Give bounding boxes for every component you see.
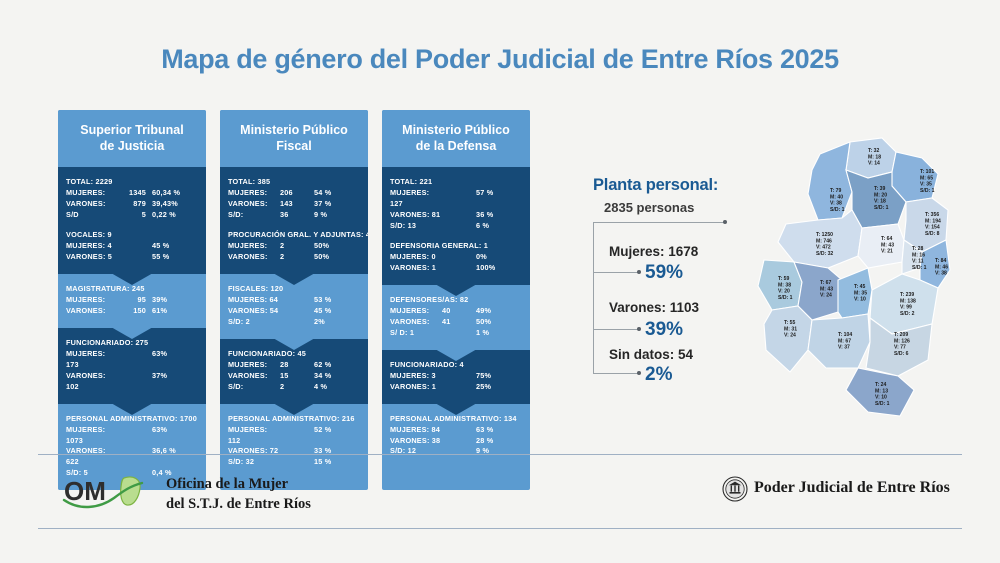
stat-row-value xyxy=(442,371,476,382)
stat-row-label: VARONES: 81 xyxy=(390,210,442,221)
stat-row-label: S/D xyxy=(66,210,116,221)
stat-row-percent: 63% xyxy=(152,349,198,371)
card-segment: TOTAL: 2229MUJERES:134560,34 %VARONES:87… xyxy=(58,167,206,274)
stat-group-header: FUNCIONARIADO: 275 xyxy=(66,338,198,347)
stat-row: S/D: 22% xyxy=(228,317,360,328)
planta-item-pct-varones: 39% xyxy=(645,319,683,341)
stat-row-value xyxy=(116,252,152,263)
stat-row-value xyxy=(442,382,476,393)
stat-group-header: FUNCIONARIADO: 45 xyxy=(228,349,360,358)
stat-row: MUJERES:20654 % xyxy=(228,188,360,199)
stat-row: VARONES:250% xyxy=(228,252,360,263)
card-ministerio-publico-de-la-defensa: Ministerio Públicode la DefensaTOTAL: 22… xyxy=(382,110,530,490)
map-region-label-este: T: 84M: 46V: 38 xyxy=(935,258,948,277)
stat-row: VARONES:14337 % xyxy=(228,199,360,210)
stat-row-label: S/D: xyxy=(228,210,280,221)
stat-group-header: TOTAL: 221 xyxy=(390,177,522,186)
stat-row: VARONES: 1100% xyxy=(390,263,522,274)
om-logo-icon: OM xyxy=(62,470,160,514)
stat-row-value xyxy=(442,446,476,457)
stat-row-label: VARONES: 1 xyxy=(390,382,442,393)
connector-dot-sindatos xyxy=(637,371,641,375)
stat-row-label: MUJERES: 4 xyxy=(66,241,116,252)
stat-group: PERSONAL ADMINISTRATIVO: 134MUJERES: 846… xyxy=(390,414,522,458)
planta-item-label-varones: Varones: 1103 xyxy=(609,300,699,315)
om-line-1: Oficina de la Mujer xyxy=(166,475,311,495)
stat-row-value xyxy=(116,349,152,371)
stat-row-value: 2 xyxy=(280,382,314,393)
stat-row-percent: 37 % xyxy=(314,199,360,210)
stat-row-value xyxy=(442,221,476,232)
stat-group: FUNCIONARIADO: 275MUJERES: 17363%VARONES… xyxy=(66,338,198,393)
stat-row-value: 40 xyxy=(442,306,476,317)
stat-row-label: MUJERES: 1073 xyxy=(66,425,116,447)
stat-row-value xyxy=(116,241,152,252)
stat-row-label: MUJERES: 112 xyxy=(228,425,280,447)
stat-group-header: DEFENSORIA GENERAL: 1 xyxy=(390,241,522,250)
stat-row-value xyxy=(280,446,314,457)
stat-row: S/D: 129 % xyxy=(390,446,522,457)
connector-dot-total xyxy=(723,220,727,224)
planta-item-pct-mujeres: 59% xyxy=(645,262,683,284)
stat-row-label: MUJERES: 64 xyxy=(228,295,280,306)
stat-row: MUJERES:250% xyxy=(228,241,360,252)
map-region-label-centro-oeste: T: 67M: 43V: 24 xyxy=(820,280,833,299)
stat-row-value xyxy=(442,425,476,436)
stat-row-label: VARONES: xyxy=(66,199,116,210)
stat-row-label: VARONES: 102 xyxy=(66,371,116,393)
poder-judicial-seal-icon xyxy=(722,476,748,502)
stat-row-label: MUJERES: xyxy=(66,295,116,306)
footer-divider-top xyxy=(38,454,962,455)
stat-row-value xyxy=(116,371,152,393)
stat-row: VARONES: 3828 % xyxy=(390,436,522,447)
stat-row-percent: 0% xyxy=(476,252,522,263)
stat-row-percent: 62 % xyxy=(314,360,360,371)
stat-row: VARONES:4150% xyxy=(390,317,522,328)
organism-cards: Superior Tribunalde JusticiaTOTAL: 2229M… xyxy=(58,110,530,490)
stat-row-label: VARONES: xyxy=(228,199,280,210)
stat-group: TOTAL: 2229MUJERES:134560,34 %VARONES:87… xyxy=(66,177,198,221)
card-segment: TOTAL: 221MUJERES: 12757 %VARONES: 8136 … xyxy=(382,167,530,285)
stat-row-percent: 50% xyxy=(314,252,360,263)
stat-row-percent: 100% xyxy=(476,263,522,274)
stat-row: S/D50,22 % xyxy=(66,210,198,221)
stat-row: MUJERES: 12757 % xyxy=(390,188,522,210)
stat-row: MUJERES: 17363% xyxy=(66,349,198,371)
stat-row: MUJERES: 6453 % xyxy=(228,295,360,306)
stat-row-value xyxy=(442,210,476,221)
stat-row: MUJERES:9539% xyxy=(66,295,198,306)
stat-group-header: PROCURACIÓN GRAL. Y ADJUNTAS: 4 xyxy=(228,230,360,239)
stat-row-value xyxy=(442,188,476,210)
poder-judicial-text: Poder Judicial de Entre Ríos xyxy=(754,479,950,497)
stat-row-label: VARONES: xyxy=(66,306,116,317)
om-line-2: del S.T.J. de Entre Ríos xyxy=(166,495,311,515)
card-subtitle: Fiscal xyxy=(240,139,348,155)
map-region-label-este-norte: T: 356M: 194V: 154S/D: 8 xyxy=(925,212,941,237)
stat-row-label: MUJERES: xyxy=(228,241,280,252)
stat-row-percent: 63% xyxy=(152,425,198,447)
map-region-label-norte-centro: T: 32M: 18V: 14 xyxy=(868,148,881,167)
stat-row-percent: 36 % xyxy=(476,210,522,221)
stat-row-percent: 50% xyxy=(314,241,360,252)
map-region-label-centro: T: 64M: 43V: 21 xyxy=(881,236,894,255)
stat-group: FISCALES: 120MUJERES: 6453 %VARONES: 544… xyxy=(228,284,360,328)
card-header-superior-tribunal-de-justicia: Superior Tribunalde Justicia xyxy=(58,110,206,167)
stat-row: MUJERES: 11252 % xyxy=(228,425,360,447)
card-title: Ministerio Público xyxy=(402,123,510,139)
stat-row-percent: 39,43% xyxy=(152,199,198,210)
stat-group: FUNCIONARIADO: 4MUJERES: 375%VARONES: 12… xyxy=(390,360,522,393)
stat-row-percent: 0,22 % xyxy=(152,210,198,221)
stat-row-label: S/ D: 1 xyxy=(390,328,442,339)
card-header-ministerio-publico-de-la-defensa: Ministerio Públicode la Defensa xyxy=(382,110,530,167)
stat-group-header: DEFENSORES/AS: 82 xyxy=(390,295,522,304)
stat-row-label: VARONES: 622 xyxy=(66,446,116,468)
stat-row-label: MUJERES: xyxy=(228,188,280,199)
stat-group-header: PERSONAL ADMINISTRATIVO: 1700 xyxy=(66,414,198,423)
stat-row-value xyxy=(442,252,476,263)
stat-group: PERSONAL ADMINISTRATIVO: 216MUJERES: 112… xyxy=(228,414,360,469)
stat-row-percent: 2% xyxy=(314,317,360,328)
stat-group: DEFENSORES/AS: 82MUJERES:4049%VARONES:41… xyxy=(390,295,522,339)
stat-row-label: MUJERES: xyxy=(228,360,280,371)
stat-row-value xyxy=(280,425,314,447)
card-title: Superior Tribunal xyxy=(80,123,184,139)
stat-row-value: 150 xyxy=(116,306,152,317)
stat-row-percent: 49% xyxy=(476,306,522,317)
stat-row-percent: 57 % xyxy=(476,188,522,210)
stat-row-value: 206 xyxy=(280,188,314,199)
stat-row-percent: 63 % xyxy=(476,425,522,436)
stat-row-value xyxy=(116,425,152,447)
stat-row-percent: 1 % xyxy=(476,328,522,339)
stat-row-value: 879 xyxy=(116,199,152,210)
stat-row-label: S/D: 2 xyxy=(228,317,280,328)
stat-row-label: MUJERES: 84 xyxy=(390,425,442,436)
planta-item-label-mujeres: Mujeres: 1678 xyxy=(609,244,698,259)
stat-row-label: VARONES: xyxy=(228,371,280,382)
stat-row-label: MUJERES: xyxy=(66,188,116,199)
stat-row-percent: 60,34 % xyxy=(152,188,198,199)
stat-row: S/D: 136 % xyxy=(390,221,522,232)
stat-row: VARONES:1534 % xyxy=(228,371,360,382)
stat-row-value xyxy=(116,446,152,468)
stat-row: VARONES:87939,43% xyxy=(66,199,198,210)
stat-row-value: 2 xyxy=(280,252,314,263)
stat-row-percent: 33 % xyxy=(314,446,360,457)
stat-row-label: VARONES: 72 xyxy=(228,446,280,457)
stat-group-header: FISCALES: 120 xyxy=(228,284,360,293)
stat-row: VARONES: 62236,6 % xyxy=(66,446,198,468)
stat-row-label: VARONES: xyxy=(228,252,280,263)
stat-group-header: TOTAL: 2229 xyxy=(66,177,198,186)
stat-row-percent: 61% xyxy=(152,306,198,317)
stat-group: TOTAL: 221MUJERES: 12757 %VARONES: 8136 … xyxy=(390,177,522,232)
stat-row-percent: 75% xyxy=(476,371,522,382)
stat-group-header: PERSONAL ADMINISTRATIVO: 134 xyxy=(390,414,522,423)
card-superior-tribunal-de-justicia: Superior Tribunalde JusticiaTOTAL: 2229M… xyxy=(58,110,206,490)
stat-row: S/D:24 % xyxy=(228,382,360,393)
stat-row-value: 41 xyxy=(442,317,476,328)
stat-row-label: S/D: 12 xyxy=(390,446,442,457)
stat-row-label: MUJERES: 173 xyxy=(66,349,116,371)
stat-row-percent: 37% xyxy=(152,371,198,393)
stat-row: VARONES: 125% xyxy=(390,382,522,393)
map-region-suroeste[interactable] xyxy=(764,306,812,372)
stat-row-percent: 45 % xyxy=(152,241,198,252)
stat-row-value xyxy=(442,263,476,274)
stat-row-label: MUJERES: 3 xyxy=(390,371,442,382)
card-header-ministerio-publico-fiscal: Ministerio PúblicoFiscal xyxy=(220,110,368,167)
connector-tick-varones xyxy=(593,329,639,330)
page-title: Mapa de género del Poder Judicial de Ent… xyxy=(0,44,1000,75)
stat-row: MUJERES: 00% xyxy=(390,252,522,263)
stat-row-percent: 25% xyxy=(476,382,522,393)
stat-row-value: 143 xyxy=(280,199,314,210)
planta-item-label-sindatos: Sin datos: 54 xyxy=(609,347,693,362)
stat-row: MUJERES:4049% xyxy=(390,306,522,317)
stat-row-value: 28 xyxy=(280,360,314,371)
stat-group-header: FUNCIONARIADO: 4 xyxy=(390,360,522,369)
card-segment: FUNCIONARIADO: 275MUJERES: 17363%VARONES… xyxy=(58,328,206,404)
stat-row: VARONES: 10237% xyxy=(66,371,198,393)
stat-row: MUJERES: 375% xyxy=(390,371,522,382)
stat-group: MAGISTRATURA: 245MUJERES:9539%VARONES:15… xyxy=(66,284,198,317)
stat-row-percent: 55 % xyxy=(152,252,198,263)
stat-group: DEFENSORIA GENERAL: 1MUJERES: 00%VARONES… xyxy=(390,241,522,274)
stat-row: S/D: 3215 % xyxy=(228,457,360,468)
stat-row-percent: 6 % xyxy=(476,221,522,232)
stat-row-percent: 36,6 % xyxy=(152,446,198,468)
stat-row-value: 5 xyxy=(116,210,152,221)
stat-row: VARONES: 555 % xyxy=(66,252,198,263)
stat-row-percent: 15 % xyxy=(314,457,360,468)
stat-row-percent: 9 % xyxy=(476,446,522,457)
card-title: Ministerio Público xyxy=(240,123,348,139)
map-region-label-suroeste: T: 55M: 31V: 24 xyxy=(784,320,797,339)
connector-dot-varones xyxy=(637,327,641,331)
stat-row-percent: 52 % xyxy=(314,425,360,447)
stat-row-value xyxy=(442,436,476,447)
card-segment: TOTAL: 385MUJERES:20654 %VARONES:14337 %… xyxy=(220,167,368,274)
stat-row-value xyxy=(280,457,314,468)
stat-row-value xyxy=(280,317,314,328)
stat-row-value: 95 xyxy=(116,295,152,306)
stat-row: VARONES:15061% xyxy=(66,306,198,317)
card-segment: PERSONAL ADMINISTRATIVO: 216MUJERES: 112… xyxy=(220,404,368,480)
stat-group: TOTAL: 385MUJERES:20654 %VARONES:14337 %… xyxy=(228,177,360,221)
stat-row-label: VARONES: 5 xyxy=(66,252,116,263)
stat-row: VARONES: 7233 % xyxy=(228,446,360,457)
om-logo-letters: OM xyxy=(64,476,106,506)
stat-row: MUJERES:134560,34 % xyxy=(66,188,198,199)
stat-row-percent: 4 % xyxy=(314,382,360,393)
stat-row: VARONES: 8136 % xyxy=(390,210,522,221)
stat-row-label: VARONES: 38 xyxy=(390,436,442,447)
stat-row-value: 15 xyxy=(280,371,314,382)
infographic-page: Mapa de género del Poder Judicial de Ent… xyxy=(0,0,1000,563)
stat-row-percent: 28 % xyxy=(476,436,522,447)
stat-group-header: MAGISTRATURA: 245 xyxy=(66,284,198,293)
card-subtitle: de Justicia xyxy=(80,139,184,155)
stat-row-label: MUJERES: 127 xyxy=(390,188,442,210)
stat-row: MUJERES: 445 % xyxy=(66,241,198,252)
stat-row-percent: 54 % xyxy=(314,188,360,199)
stat-row-percent: 50% xyxy=(476,317,522,328)
stat-row: S/ D: 11 % xyxy=(390,328,522,339)
planta-item-pct-sindatos: 2% xyxy=(645,364,672,386)
connector-tick-sindatos xyxy=(593,373,639,374)
connector-tick-total xyxy=(593,222,725,223)
oficina-de-la-mujer-logo: OM xyxy=(62,470,160,514)
stat-row-label: VARONES: 54 xyxy=(228,306,280,317)
map-region-label-centro-sur: T: 45M: 35V: 10 xyxy=(854,284,867,303)
map-svg: T: 32M: 18V: 14T: 101M: 65V: 35S/D: 1T: … xyxy=(742,128,987,423)
oficina-de-la-mujer-text: Oficina de la Mujer del S.T.J. de Entre … xyxy=(166,475,311,514)
stat-row-percent: 34 % xyxy=(314,371,360,382)
bracket-line xyxy=(593,222,605,373)
stat-row-percent: 39% xyxy=(152,295,198,306)
stat-row-label: S/D: 13 xyxy=(390,221,442,232)
stat-row-label: VARONES: 1 xyxy=(390,263,442,274)
stat-row-label: S/D: xyxy=(228,382,280,393)
stat-group: FUNCIONARIADO: 45MUJERES:2862 %VARONES:1… xyxy=(228,349,360,393)
connector-tick-mujeres xyxy=(593,272,639,273)
stat-row-label: MUJERES: 0 xyxy=(390,252,442,263)
stat-row-label: MUJERES: xyxy=(390,306,442,317)
entre-rios-choropleth-map: T: 32M: 18V: 14T: 101M: 65V: 35S/D: 1T: … xyxy=(742,128,987,423)
stat-group: VOCALES: 9MUJERES: 445 %VARONES: 555 % xyxy=(66,230,198,263)
stat-row-value xyxy=(280,295,314,306)
stat-row-percent: 53 % xyxy=(314,295,360,306)
stat-group-header: VOCALES: 9 xyxy=(66,230,198,239)
stat-row-value xyxy=(280,306,314,317)
stat-row: S/D:369 % xyxy=(228,210,360,221)
stat-row-value xyxy=(442,328,476,339)
stat-row-percent: 9 % xyxy=(314,210,360,221)
stat-row-percent: 45 % xyxy=(314,306,360,317)
connector-dot-mujeres xyxy=(637,270,641,274)
stat-group: PROCURACIÓN GRAL. Y ADJUNTAS: 4MUJERES:2… xyxy=(228,230,360,263)
stat-row: MUJERES: 107363% xyxy=(66,425,198,447)
stat-group-header: PERSONAL ADMINISTRATIVO: 216 xyxy=(228,414,360,423)
stat-row-value: 2 xyxy=(280,241,314,252)
card-ministerio-publico-fiscal: Ministerio PúblicoFiscalTOTAL: 385MUJERE… xyxy=(220,110,368,490)
stat-row: MUJERES:2862 % xyxy=(228,360,360,371)
stat-row-value: 1345 xyxy=(116,188,152,199)
stat-row-value: 36 xyxy=(280,210,314,221)
stat-row-label: VARONES: xyxy=(390,317,442,328)
footer-divider-bottom xyxy=(38,528,962,529)
stat-row-label: S/D: 32 xyxy=(228,457,280,468)
stat-row: VARONES: 5445 % xyxy=(228,306,360,317)
stat-row: MUJERES: 8463 % xyxy=(390,425,522,436)
card-subtitle: de la Defensa xyxy=(402,139,510,155)
stat-group-header: TOTAL: 385 xyxy=(228,177,360,186)
